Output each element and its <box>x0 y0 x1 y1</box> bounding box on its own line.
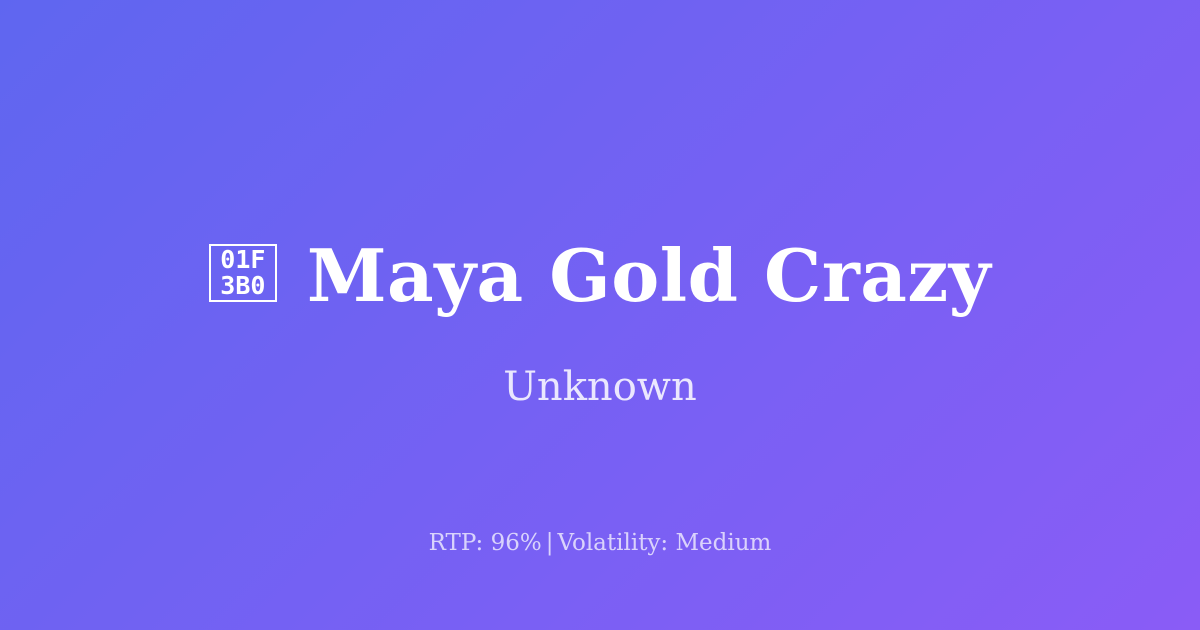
game-preview-card: 01F 3B0 Maya Gold Crazy Unknown RTP: 96%… <box>0 0 1200 630</box>
tofu-hex-top: 01F <box>220 247 265 273</box>
game-provider-subtitle: Unknown <box>0 360 1200 414</box>
tofu-hex-bottom: 3B0 <box>220 273 265 299</box>
volatility-value: Volatility: Medium <box>557 530 771 556</box>
page-title: Maya Gold Crazy <box>307 236 991 316</box>
title-row: 01F 3B0 Maya Gold Crazy <box>0 224 1200 328</box>
meta-separator: | <box>542 530 558 556</box>
game-meta-line: RTP: 96%|Volatility: Medium <box>0 527 1200 559</box>
slot-machine-emoji-icon: 01F 3B0 <box>209 244 277 302</box>
rtp-value: RTP: 96% <box>429 530 542 556</box>
